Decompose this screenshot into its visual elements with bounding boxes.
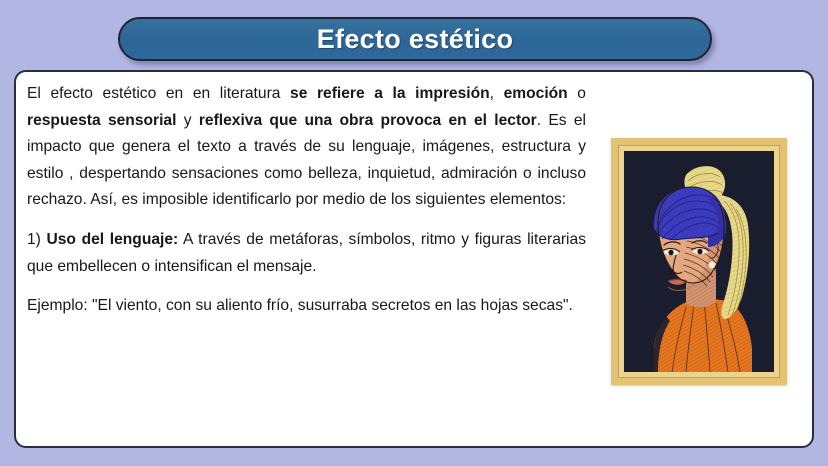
item-label: Uso del lenguaje:	[47, 231, 179, 248]
slide: Efecto estético El efecto estético en en…	[0, 0, 828, 466]
body-text-block: El efecto estético en en literatura se r…	[27, 81, 586, 320]
p1-bold4: reflexiva que una obra provoca en el lec…	[199, 112, 537, 129]
p1-part2: ,	[490, 85, 504, 102]
portrait-illustration	[624, 151, 774, 372]
p1-part4: y	[176, 112, 198, 129]
right-eye	[697, 249, 702, 255]
pearl-earring	[708, 261, 715, 268]
picture-canvas	[624, 151, 774, 372]
page-title: Efecto estético	[317, 24, 514, 55]
content-card: El efecto estético en en literatura se r…	[14, 70, 814, 448]
p1-bold1: se refiere a la impresión	[290, 85, 490, 102]
p1-bold3: respuesta sensorial	[27, 112, 176, 129]
title-banner: Efecto estético	[118, 17, 712, 61]
p1-bold2: emoción	[504, 85, 568, 102]
framed-picture	[611, 138, 787, 385]
paragraph-example: Ejemplo: "El viento, con su aliento frío…	[27, 293, 586, 320]
item-number: 1)	[27, 231, 47, 248]
paragraph-item-1: 1) Uso del lenguaje: A través de metáfor…	[27, 227, 586, 280]
left-eye	[668, 250, 673, 256]
paragraph-definition: El efecto estético en en literatura se r…	[27, 81, 586, 214]
p1-part1: El efecto estético en en literatura	[27, 85, 290, 102]
p1-part3: o	[568, 85, 586, 102]
